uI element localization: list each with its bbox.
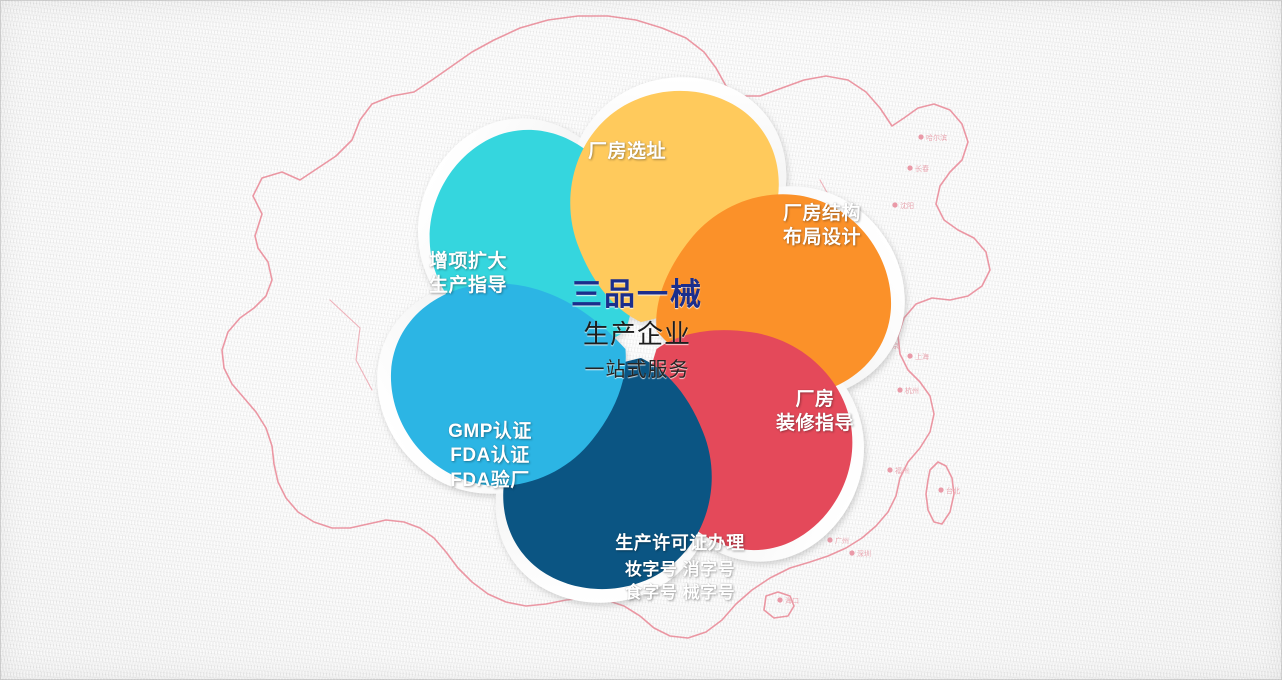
service-pinwheel [333,38,949,642]
infographic-canvas: 哈尔滨长春沈阳北京济南郑州南京上海武汉杭州福州广州深圳台北海口成都重庆西安昆明乌… [0,0,1282,680]
